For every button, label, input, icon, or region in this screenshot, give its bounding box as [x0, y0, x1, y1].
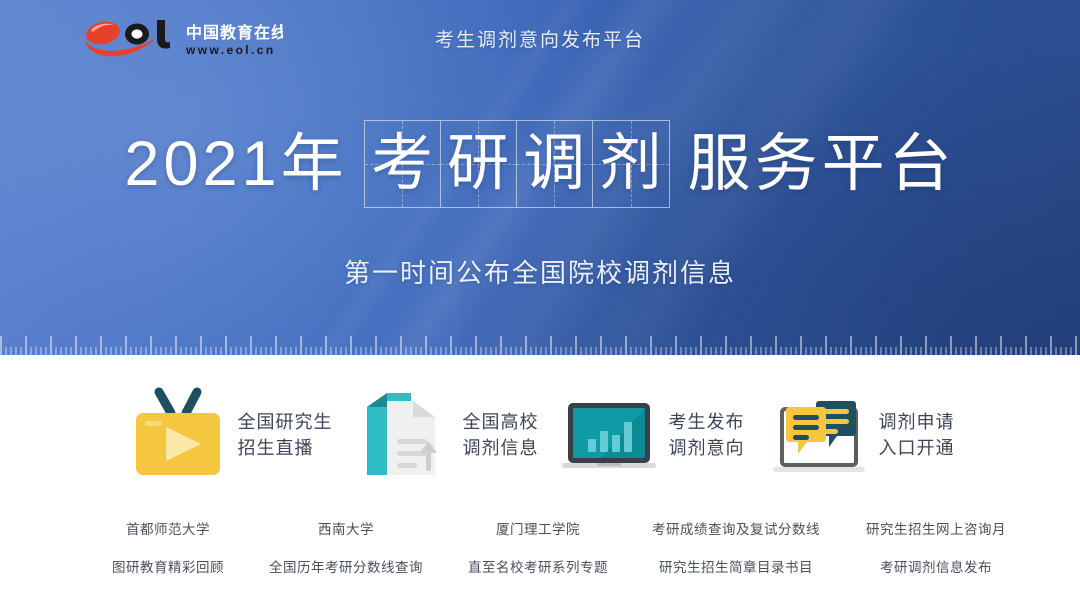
ruler-tick	[355, 347, 357, 355]
ruler-tick	[140, 347, 142, 355]
feature-label-line1: 考生发布	[669, 412, 745, 432]
headline-year: 2021年	[124, 133, 363, 196]
link-item[interactable]: 图研教育精彩回顾	[84, 556, 252, 576]
ruler-tick	[285, 347, 287, 355]
quick-links-row-1: 首都师范大学 西南大学 厦门理工学院 考研成绩查询及复试分数线 研究生招生网上咨…	[0, 518, 1080, 538]
ruler-tick	[390, 347, 392, 355]
ruler-tick	[890, 347, 892, 355]
ruler-tick	[720, 347, 722, 355]
ruler-tick	[665, 347, 667, 355]
ruler-tick	[365, 347, 367, 355]
ruler-tick	[25, 336, 27, 355]
feature-label-line2: 招生直播	[238, 438, 314, 458]
ruler-tick	[1005, 347, 1007, 355]
ruler-tick	[910, 347, 912, 355]
ruler-tick	[295, 347, 297, 355]
ruler-tick	[625, 336, 627, 355]
ruler-tick	[265, 347, 267, 355]
ruler-tick	[350, 336, 352, 355]
ruler-tick	[1075, 336, 1077, 355]
ruler-tick	[35, 347, 37, 355]
link-item[interactable]: 西南大学	[252, 518, 440, 538]
ruler-tick	[1015, 347, 1017, 355]
ruler-tick	[965, 347, 967, 355]
ruler-tick	[320, 347, 322, 355]
ruler-tick	[505, 347, 507, 355]
ruler-tick	[235, 347, 237, 355]
ruler-tick	[440, 347, 442, 355]
ruler-tick	[1030, 347, 1032, 355]
ruler-tick	[990, 347, 992, 355]
ruler-tick	[310, 347, 312, 355]
ruler-tick	[245, 347, 247, 355]
ruler-tick	[340, 347, 342, 355]
ruler-tick	[115, 347, 117, 355]
ruler-tick	[20, 347, 22, 355]
ruler-tick	[785, 347, 787, 355]
ruler-tick	[500, 336, 502, 355]
feature-label-line2: 调剂意向	[669, 438, 745, 458]
headline-grid-word: 考 研 调 剂	[364, 120, 670, 208]
ruler-tick	[1025, 336, 1027, 355]
ruler-tick	[970, 347, 972, 355]
ruler-tick	[275, 336, 277, 355]
grid-cell-4: 剂	[593, 121, 669, 207]
ruler-tick	[610, 347, 612, 355]
ruler-decoration	[0, 329, 1080, 355]
hero-banner: 中国教育在线 www.eol.cn 考生调剂意向发布平台 2021年 考 研 调	[0, 0, 1080, 355]
link-item[interactable]: 首都师范大学	[84, 518, 252, 538]
laptop-chart-icon	[557, 383, 661, 487]
ruler-tick	[880, 347, 882, 355]
ruler-tick	[945, 347, 947, 355]
ruler-tick	[865, 347, 867, 355]
ruler-tick	[700, 336, 702, 355]
ruler-tick	[280, 347, 282, 355]
ruler-tick	[650, 336, 652, 355]
ruler-tick	[795, 347, 797, 355]
ruler-tick	[160, 347, 162, 355]
ruler-tick	[170, 347, 172, 355]
laptop-chat-icon	[767, 383, 871, 487]
ruler-tick	[840, 347, 842, 355]
ruler-tick	[870, 347, 872, 355]
ruler-tick	[670, 347, 672, 355]
ruler-tick	[100, 336, 102, 355]
ruler-tick	[480, 347, 482, 355]
ruler-tick	[955, 347, 957, 355]
ruler-tick	[50, 336, 52, 355]
ruler-tick	[225, 336, 227, 355]
ruler-tick	[1040, 347, 1042, 355]
banner-header: 中国教育在线 www.eol.cn 考生调剂意向发布平台	[0, 0, 1080, 72]
ruler-tick	[135, 347, 137, 355]
ruler-tick	[1055, 347, 1057, 355]
ruler-tick	[905, 347, 907, 355]
ruler-tick	[1035, 347, 1037, 355]
ruler-tick	[660, 347, 662, 355]
ruler-tick	[150, 336, 152, 355]
ruler-tick	[125, 336, 127, 355]
feature-label-transfer-info: 全国高校 调剂信息	[463, 409, 539, 461]
ruler-tick	[770, 347, 772, 355]
ruler-tick	[765, 347, 767, 355]
ruler-tick	[775, 336, 777, 355]
ruler-tick	[565, 347, 567, 355]
ruler-tick	[1010, 347, 1012, 355]
ruler-tick	[70, 347, 72, 355]
ruler-tick	[590, 347, 592, 355]
ruler-tick	[645, 347, 647, 355]
link-item[interactable]: 厦门理工学院	[440, 518, 636, 538]
ruler-tick	[110, 347, 112, 355]
ruler-tick	[815, 347, 817, 355]
ruler-tick	[680, 347, 682, 355]
ruler-tick	[405, 347, 407, 355]
ruler-tick	[255, 347, 257, 355]
headline-suffix: 服务平台	[670, 133, 956, 196]
feature-label-line2: 入口开通	[879, 438, 955, 458]
feature-label-line1: 全国研究生	[238, 412, 333, 432]
ruler-tick	[790, 347, 792, 355]
ruler-tick	[755, 347, 757, 355]
ruler-tick	[780, 347, 782, 355]
ruler-tick	[835, 347, 837, 355]
feature-label-line1: 全国高校	[463, 412, 539, 432]
feature-item-publish-intent[interactable]: 考生发布 调剂意向	[557, 383, 745, 487]
ruler-tick	[975, 336, 977, 355]
feature-item-live[interactable]: 全国研究生 招生直播	[126, 383, 333, 487]
feature-label-publish-intent: 考生发布 调剂意向	[669, 409, 745, 461]
ruler-tick	[325, 336, 327, 355]
ruler-tick	[305, 347, 307, 355]
ruler-tick	[725, 336, 727, 355]
ruler-tick	[250, 336, 252, 355]
ruler-tick	[260, 347, 262, 355]
ruler-tick	[655, 347, 657, 355]
ruler-tick	[215, 347, 217, 355]
ruler-tick	[545, 347, 547, 355]
link-item[interactable]: 直至名校考研系列专题	[440, 556, 636, 576]
tv-live-icon	[126, 383, 230, 487]
ruler-tick	[400, 336, 402, 355]
link-item[interactable]: 研究生招生简章目录书目	[636, 556, 836, 576]
ruler-tick	[290, 347, 292, 355]
ruler-tick	[495, 347, 497, 355]
ruler-tick	[410, 347, 412, 355]
link-item[interactable]: 研究生招生网上咨询月	[836, 518, 1036, 538]
ruler-tick	[375, 336, 377, 355]
ruler-tick	[80, 347, 82, 355]
ruler-tick	[550, 336, 552, 355]
ruler-tick	[5, 347, 7, 355]
ruler-tick	[1050, 336, 1052, 355]
ruler-tick	[185, 347, 187, 355]
ruler-tick	[385, 347, 387, 355]
ruler-tick	[10, 347, 12, 355]
ruler-tick	[950, 336, 952, 355]
ruler-tick	[740, 347, 742, 355]
ruler-tick	[615, 347, 617, 355]
ruler-tick	[420, 347, 422, 355]
ruler-tick	[30, 347, 32, 355]
ruler-tick	[570, 347, 572, 355]
ruler-tick	[490, 347, 492, 355]
ruler-tick	[445, 347, 447, 355]
grid-cell-1: 考	[365, 121, 441, 207]
promo-page: 中国教育在线 www.eol.cn 考生调剂意向发布平台 2021年 考 研 调	[0, 0, 1080, 589]
ruler-tick	[535, 347, 537, 355]
feature-label-line2: 调剂信息	[463, 438, 539, 458]
ruler-tick	[380, 347, 382, 355]
feature-item-application-entry[interactable]: 调剂申请 入口开通	[767, 383, 955, 487]
quick-links-row-2: 图研教育精彩回顾 全国历年考研分数线查询 直至名校考研系列专题 研究生招生简章目…	[0, 556, 1080, 576]
ruler-tick	[595, 347, 597, 355]
ruler-tick	[165, 347, 167, 355]
ruler-tick	[345, 347, 347, 355]
ruler-tick	[220, 347, 222, 355]
link-item[interactable]: 考研成绩查询及复试分数线	[636, 518, 836, 538]
link-item[interactable]: 考研调剂信息发布	[836, 556, 1036, 576]
ruler-tick	[695, 347, 697, 355]
ruler-tick	[190, 347, 192, 355]
ruler-tick	[860, 347, 862, 355]
ruler-tick	[845, 347, 847, 355]
grid-cell-3: 调	[517, 121, 593, 207]
feature-list: 全国研究生 招生直播	[0, 370, 1080, 500]
platform-subtitle: 考生调剂意向发布平台	[0, 25, 1080, 52]
ruler-tick	[855, 347, 857, 355]
ruler-tick	[1065, 347, 1067, 355]
document-upload-icon	[351, 383, 455, 487]
ruler-tick	[15, 347, 17, 355]
ruler-tick	[580, 347, 582, 355]
ruler-tick	[900, 336, 902, 355]
ruler-tick	[520, 347, 522, 355]
ruler-tick	[45, 347, 47, 355]
ruler-tick	[1020, 347, 1022, 355]
ruler-tick	[1070, 347, 1072, 355]
ruler-tick	[710, 347, 712, 355]
ruler-tick	[60, 347, 62, 355]
ruler-tick	[810, 347, 812, 355]
ruler-tick	[820, 347, 822, 355]
ruler-tick	[205, 347, 207, 355]
ruler-tick	[450, 336, 452, 355]
ruler-tick	[585, 347, 587, 355]
feature-label-live: 全国研究生 招生直播	[238, 409, 333, 461]
ruler-tick	[620, 347, 622, 355]
ruler-tick	[300, 336, 302, 355]
ruler-tick	[825, 336, 827, 355]
ruler-tick	[105, 347, 107, 355]
ruler-tick	[315, 347, 317, 355]
ruler-tick	[640, 347, 642, 355]
ruler-tick	[195, 347, 197, 355]
ruler-tick	[760, 347, 762, 355]
ruler-tick	[85, 347, 87, 355]
ruler-tick	[90, 347, 92, 355]
ruler-tick	[510, 347, 512, 355]
ruler-tick	[475, 336, 477, 355]
ruler-tick	[465, 347, 467, 355]
ruler-tick	[895, 347, 897, 355]
ruler-tick	[940, 347, 942, 355]
ruler-tick	[750, 336, 752, 355]
ruler-tick	[530, 347, 532, 355]
ruler-tick	[745, 347, 747, 355]
ruler-tick	[575, 336, 577, 355]
ruler-tick	[600, 336, 602, 355]
ruler-tick	[425, 336, 427, 355]
feature-label-application-entry: 调剂申请 入口开通	[879, 409, 955, 461]
feature-label-line1: 调剂申请	[879, 412, 955, 432]
hero-headline: 2021年 考 研 调 剂 服务平台	[0, 120, 1080, 208]
ruler-tick	[485, 347, 487, 355]
quick-links: 首都师范大学 西南大学 厦门理工学院 考研成绩查询及复试分数线 研究生招生网上咨…	[0, 518, 1080, 576]
ruler-tick	[715, 347, 717, 355]
ruler-tick	[730, 347, 732, 355]
ruler-tick	[460, 347, 462, 355]
ruler-tick	[920, 347, 922, 355]
ruler-tick	[885, 347, 887, 355]
ruler-tick	[930, 347, 932, 355]
ruler-tick	[0, 336, 2, 355]
ruler-tick	[925, 336, 927, 355]
ruler-tick	[370, 347, 372, 355]
ruler-tick	[470, 347, 472, 355]
ruler-tick	[65, 347, 67, 355]
link-item[interactable]: 全国历年考研分数线查询	[252, 556, 440, 576]
ruler-tick	[155, 347, 157, 355]
ruler-tick	[555, 347, 557, 355]
ruler-tick	[180, 347, 182, 355]
ruler-tick	[130, 347, 132, 355]
ruler-tick	[630, 347, 632, 355]
ruler-tick	[935, 347, 937, 355]
ruler-tick	[175, 336, 177, 355]
ruler-tick	[455, 347, 457, 355]
ruler-tick	[995, 347, 997, 355]
ruler-tick	[805, 347, 807, 355]
ruler-tick	[800, 336, 802, 355]
ruler-tick	[430, 347, 432, 355]
ruler-tick	[395, 347, 397, 355]
ruler-tick	[980, 347, 982, 355]
ruler-tick	[635, 347, 637, 355]
ruler-tick	[705, 347, 707, 355]
ruler-tick	[560, 347, 562, 355]
ruler-tick	[605, 347, 607, 355]
ruler-tick	[690, 347, 692, 355]
ruler-tick	[270, 347, 272, 355]
ruler-tick	[330, 347, 332, 355]
ruler-tick	[675, 336, 677, 355]
grid-cell-2: 研	[441, 121, 517, 207]
ruler-tick	[40, 347, 42, 355]
ruler-tick	[1060, 347, 1062, 355]
ruler-tick	[360, 347, 362, 355]
hero-subheadline: 第一时间公布全国院校调剂信息	[0, 253, 1080, 290]
ruler-tick	[145, 347, 147, 355]
ruler-tick	[75, 336, 77, 355]
ruler-tick	[875, 336, 877, 355]
ruler-tick	[915, 347, 917, 355]
ruler-tick	[210, 347, 212, 355]
ruler-tick	[540, 347, 542, 355]
ruler-tick	[55, 347, 57, 355]
ruler-tick	[95, 347, 97, 355]
ruler-tick	[515, 347, 517, 355]
ruler-tick	[240, 347, 242, 355]
feature-item-transfer-info[interactable]: 全国高校 调剂信息	[351, 383, 539, 487]
ruler-tick	[960, 347, 962, 355]
ruler-tick	[735, 347, 737, 355]
ruler-tick	[435, 347, 437, 355]
ruler-tick	[830, 347, 832, 355]
ruler-tick	[230, 347, 232, 355]
ruler-tick	[985, 347, 987, 355]
ruler-tick	[335, 347, 337, 355]
ruler-tick	[685, 347, 687, 355]
ruler-tick	[120, 347, 122, 355]
ruler-tick	[525, 336, 527, 355]
ruler-tick	[415, 347, 417, 355]
ruler-tick	[200, 336, 202, 355]
ruler-tick	[1045, 347, 1047, 355]
ruler-tick	[850, 336, 852, 355]
ruler-tick	[1000, 336, 1002, 355]
